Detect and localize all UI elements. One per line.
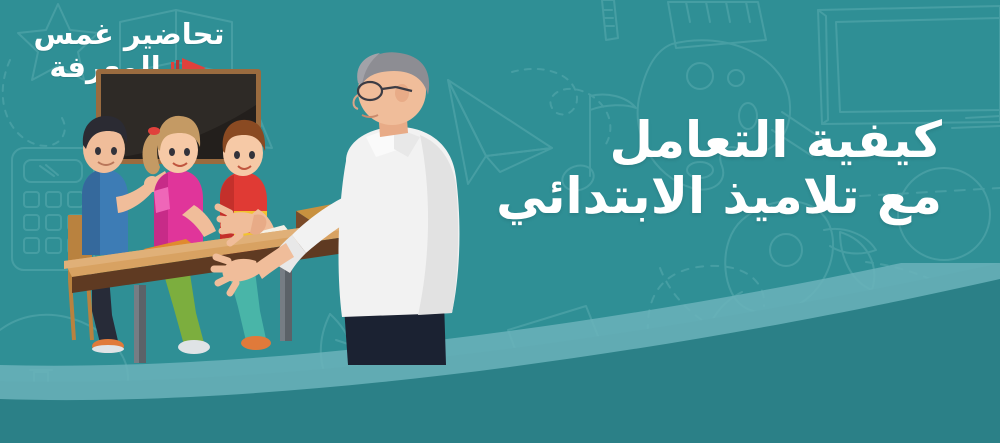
course-banner: تحاضير غمس المعرفة كيفية التعامل مع تلام… bbox=[0, 0, 1000, 443]
headline-line-2: مع تلاميذ الابتدائي bbox=[496, 168, 942, 224]
monitor-doodle bbox=[818, 6, 1000, 128]
headline-line-1: كيفية التعامل bbox=[496, 112, 942, 168]
logo-line-1: تحاضير غمس bbox=[34, 20, 225, 49]
flask-doodle bbox=[19, 370, 63, 428]
banner-headline: كيفية التعامل مع تلاميذ الابتدائي bbox=[496, 112, 942, 224]
classroom-illustration bbox=[48, 65, 478, 365]
